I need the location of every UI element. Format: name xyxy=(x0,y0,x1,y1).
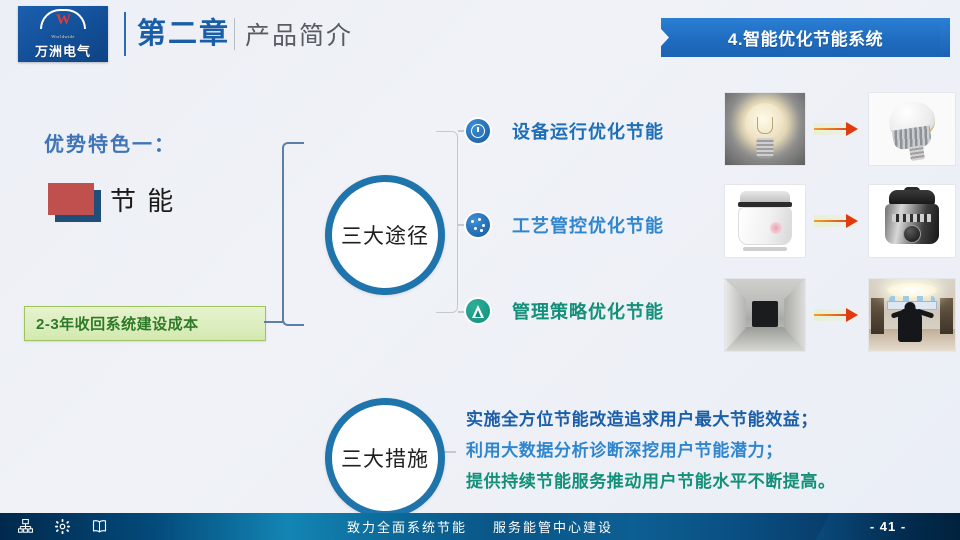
node-three-measures: 三大措施 xyxy=(325,398,445,518)
arrow-right-icon xyxy=(814,211,860,231)
arrow-right-icon xyxy=(814,119,860,139)
lit-corridor-image xyxy=(868,278,956,352)
route-item-process: 工艺管控优化节能 xyxy=(466,212,664,238)
measure-line-2: 提供持续节能服务推动用户节能水平不断提高。 xyxy=(466,466,836,497)
red-square-marker xyxy=(48,183,94,215)
clock-icon xyxy=(466,119,490,143)
cost-recovery-label: 2-3年收回系统建设成本 xyxy=(36,313,199,334)
logo-emblem-icon: W xyxy=(40,9,86,33)
left-bracket-connector xyxy=(282,142,304,326)
route-item-equipment: 设备运行优化节能 xyxy=(466,118,664,144)
picture-row-lighting xyxy=(724,92,956,166)
route-label-2: 管理策略优化节能 xyxy=(512,298,664,324)
footer-slogan: 致力全面系统节能 服务能管中心建设 xyxy=(0,513,960,540)
title-left-rule xyxy=(124,12,126,56)
route-label-1: 工艺管控优化节能 xyxy=(512,212,664,238)
logo-company-name: 万洲电气 xyxy=(35,41,91,60)
company-logo: W Worldwide 万洲电气 xyxy=(18,6,108,62)
logo-letter: W xyxy=(40,11,86,29)
page-number-tab: - 41 - xyxy=(816,513,960,540)
page-number: - 41 - xyxy=(870,519,906,534)
feature-keyword: 节 能 xyxy=(110,181,175,218)
led-bulb-image xyxy=(868,92,956,166)
chapter-title: 第二章 xyxy=(137,16,230,52)
route-label-0: 设备运行优化节能 xyxy=(512,118,664,144)
page-subtitle: 产品简介 xyxy=(245,20,353,52)
node-three-paths: 三大途径 xyxy=(325,175,445,295)
footer-slogan-right: 服务能管中心建设 xyxy=(493,517,613,536)
measures-text-block: 实施全方位节能改造追求用户最大节能效益； 利用大数据分析诊断深挖用户节能潜力； … xyxy=(466,404,836,497)
dark-corridor-image xyxy=(724,278,806,352)
incandescent-bulb-image xyxy=(724,92,806,166)
measure-line-0: 实施全方位节能改造追求用户最大节能效益； xyxy=(466,404,836,435)
triangle-eco-icon xyxy=(466,299,490,323)
measure-line-1: 利用大数据分析诊断深挖用户节能潜力； xyxy=(466,435,836,466)
section-banner: 4.智能优化节能系统 xyxy=(661,18,950,57)
pressure-cooker-image xyxy=(868,184,956,258)
logo-sub-text: Worldwide xyxy=(51,34,74,39)
picture-row-cooker xyxy=(724,184,956,258)
title-separator xyxy=(234,18,235,50)
route-item-management: 管理策略优化节能 xyxy=(466,298,664,324)
rice-cooker-image xyxy=(724,184,806,258)
section-banner-label: 4.智能优化节能系统 xyxy=(728,25,883,50)
picture-row-corridor xyxy=(724,278,956,352)
cost-recovery-box: 2-3年收回系统建设成本 xyxy=(24,306,266,341)
footer-slogan-left: 致力全面系统节能 xyxy=(347,517,467,536)
feature-heading: 优势特色一： xyxy=(44,128,176,157)
node-three-measures-label: 三大措施 xyxy=(341,443,429,473)
network-globe-icon xyxy=(466,213,490,237)
slide-canvas: W Worldwide 万洲电气 第二章 产品简介 4.智能优化节能系统 优势特… xyxy=(0,0,960,540)
node-three-paths-label: 三大途径 xyxy=(341,220,429,250)
left-bracket-stub xyxy=(264,321,284,323)
arrow-right-icon xyxy=(814,305,860,325)
